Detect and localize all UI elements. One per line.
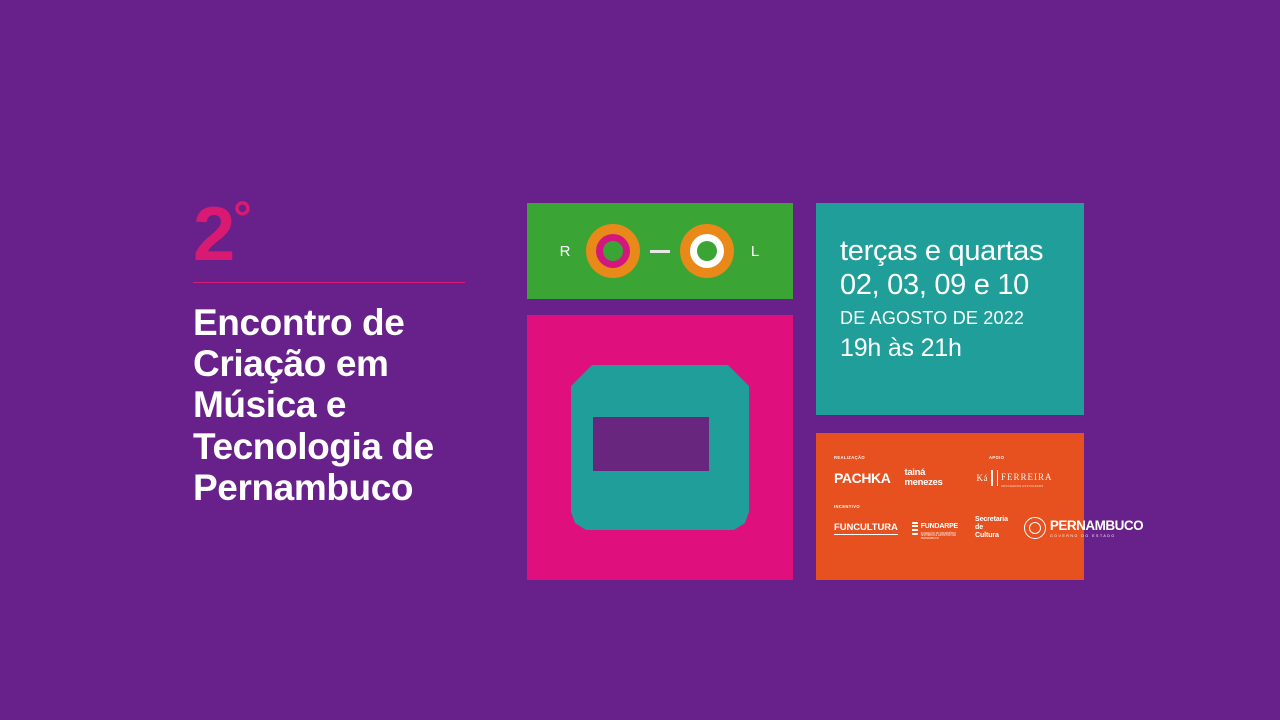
schedule-card: terças e quartas 02, 03, 09 e 10 DE AGOS…	[816, 203, 1084, 415]
sponsor-headings-row: REALIZAÇÃO APOIO	[834, 455, 1068, 460]
page-title: Encontro de Criação em Música e Tecnolog…	[193, 302, 478, 509]
sponsor-label-incentivo: INCENTIVO	[834, 504, 860, 509]
title-block: 2° Encontro de Criação em Música e Tecno…	[193, 203, 478, 509]
taina-line2: menezes	[904, 477, 942, 488]
kaf-text: FERREIRA ADVOGADOS ASSOCIADOS	[1001, 467, 1053, 488]
ka-ferreira-logo: Ká FERREIRA ADVOGADOS ASSOCIADOS	[977, 467, 1053, 488]
audio-channel-card: R L	[527, 203, 793, 299]
pachka-logo: PACHKA	[834, 470, 890, 486]
secult-line1: Secretaria	[975, 516, 1008, 523]
kaf-name: FERREIRA	[1001, 472, 1053, 482]
audio-jack-left-icon	[586, 224, 640, 278]
sponsor-logos-row: PACHKA tainá menezes Ká FERREIRA ADVOGAD…	[834, 467, 1068, 488]
sponsor-group-realizacao: REALIZAÇÃO APOIO PACHKA tainá menezes Ká…	[834, 455, 1068, 488]
edition-ordinal: 2°	[193, 203, 478, 268]
pernambuco-sub: GOVERNO DO ESTADO	[1050, 535, 1143, 539]
sponsors-card: REALIZAÇÃO APOIO PACHKA tainá menezes Ká…	[816, 433, 1084, 580]
pernambuco-seal-icon	[1024, 517, 1046, 539]
edition-number: 2	[193, 192, 233, 277]
pernambuco-name: PERNAMBUCO	[1050, 518, 1143, 533]
schedule-month-year: DE AGOSTO DE 2022	[840, 305, 1084, 332]
title-divider	[193, 282, 465, 283]
sponsor-group-incentivo: INCENTIVO FUNCULTURA FUNDARPE FUNDAÇÃO D…	[834, 504, 1068, 540]
schedule-days: terças e quartas	[840, 235, 1084, 269]
kaf-bar-icon	[991, 470, 993, 486]
channel-label-left: L	[734, 243, 776, 260]
ring-inner-white	[690, 234, 724, 268]
fundarpe-text: FUNDARPE FUNDAÇÃO DO PATRIMÔNIO HISTÓRIC…	[921, 516, 961, 540]
ring-inner-pink	[596, 234, 630, 268]
kaf-prefix: Ká	[977, 473, 989, 483]
kaf-sub: ADVOGADOS ASSOCIADOS	[1001, 485, 1053, 488]
sponsor-headings-row-2: INCENTIVO	[834, 504, 1068, 509]
fundarpe-sub: FUNDAÇÃO DO PATRIMÔNIO HISTÓRICO E ARTÍS…	[921, 533, 961, 541]
ring-core	[603, 241, 623, 261]
kaf-bar2-icon	[997, 470, 999, 486]
channel-label-right: R	[544, 243, 586, 260]
fundarpe-mark-icon	[912, 522, 918, 535]
funcultura-logo: FUNCULTURA	[834, 522, 898, 535]
fundarpe-logo: FUNDARPE FUNDAÇÃO DO PATRIMÔNIO HISTÓRIC…	[912, 516, 961, 540]
cable-dash-icon	[650, 250, 670, 253]
sponsor-label-realizacao: REALIZAÇÃO	[834, 455, 865, 460]
pernambuco-text: PERNAMBUCO GOVERNO DO ESTADO	[1050, 518, 1143, 539]
sponsor-label-apoio: APOIO	[989, 455, 1004, 460]
sponsor-logos-row-2: FUNCULTURA FUNDARPE FUNDAÇÃO DO PATRIMÔN…	[834, 516, 1068, 540]
fundarpe-name: FUNDARPE	[921, 523, 958, 530]
poster-canvas: 2° Encontro de Criação em Música e Tecno…	[0, 0, 1280, 720]
ring-core	[697, 241, 717, 261]
degree-symbol: °	[233, 192, 249, 244]
secretaria-cultura-logo: Secretaria de Cultura	[975, 516, 1008, 540]
taina-menezes-logo: tainá menezes	[904, 468, 942, 487]
audio-jack-right-icon	[680, 224, 734, 278]
schedule-dates: 02, 03, 09 e 10	[840, 269, 1084, 303]
pernambuco-logo: PERNAMBUCO GOVERNO DO ESTADO	[1024, 517, 1143, 539]
schedule-time: 19h às 21h	[840, 333, 1084, 364]
device-card	[527, 315, 793, 580]
floppy-label-icon	[593, 417, 709, 471]
floppy-disk-icon	[571, 365, 749, 530]
secult-line2: de Cultura	[975, 524, 999, 539]
